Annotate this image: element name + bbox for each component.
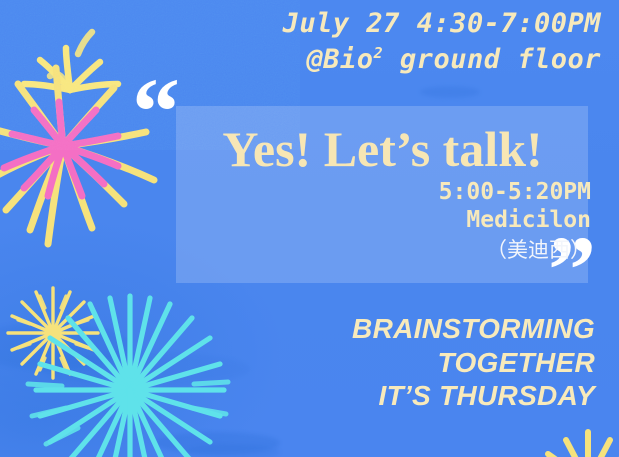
tagline-line-1: BRAINSTORMING [352,312,595,346]
event-location-suffix: ground floor [383,44,601,75]
event-header: July 27 4:30-7:00PM @Bio2 ground floor [0,6,601,78]
session-time: 5:00-5:20PM [439,178,591,206]
background-blob [420,86,480,98]
tagline-line-2: TOGETHER [352,346,595,380]
event-datetime: July 27 4:30-7:00PM [0,6,601,42]
company-name: Medicilon [466,206,591,234]
company-name-chinese: （美迪西） [486,238,591,264]
poster-canvas: July 27 4:30-7:00PM @Bio2 ground floor “… [0,0,619,457]
closing-quote-icon: ” [548,222,596,318]
event-location-prefix: @Bio [307,44,374,75]
event-location-superscript: 2 [374,44,384,62]
background-blob [185,444,280,457]
event-location: @Bio2 ground floor [0,42,601,78]
opening-quote-icon: “ [132,64,180,160]
headline-text: Yes! Let’s talk! [176,124,589,174]
tagline-block: BRAINSTORMING TOGETHER IT’S THURSDAY [352,312,595,413]
background-blob [40,352,250,386]
tagline-line-3: IT’S THURSDAY [352,379,595,413]
